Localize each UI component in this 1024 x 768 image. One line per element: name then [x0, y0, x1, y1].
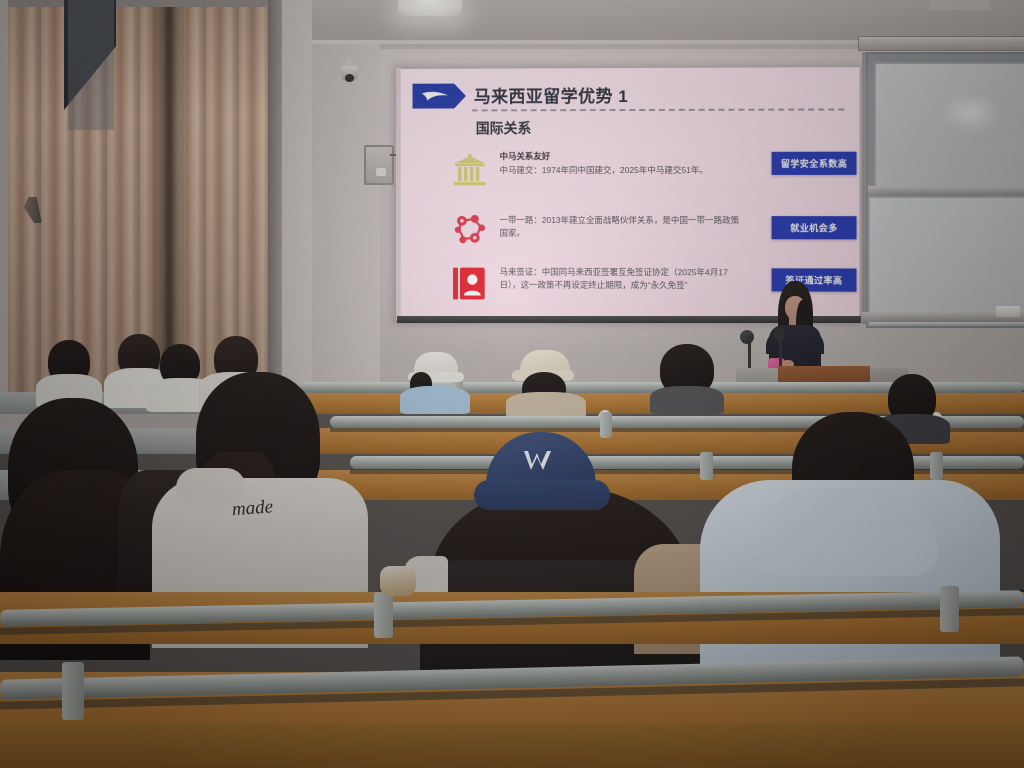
desk-object	[380, 566, 416, 596]
passport-id-icon	[452, 266, 488, 302]
slide-item-1-heading: 中马关系友好	[500, 150, 748, 162]
ceiling-light-secondary	[930, 0, 990, 10]
camera-lens-icon	[345, 74, 354, 82]
wall-panel-button[interactable]	[376, 168, 386, 176]
lecture-hall-photo: 马来西亚留学优势 1 国际关系 中马关系友好 中马建交：1974年同中国建交，2…	[0, 0, 1024, 768]
bank-building-icon	[452, 152, 488, 188]
rail-shadow	[350, 469, 1024, 474]
slide-item-1-tag[interactable]: 留学安全系数高	[772, 152, 857, 175]
slide-title: 马来西亚留学优势 1	[474, 82, 628, 107]
whiteboard-top-rail	[858, 36, 1024, 51]
curtain-rail	[8, 0, 282, 7]
slide-title-divider	[472, 108, 845, 111]
slide-item-3-body: 马来签证：中国同马来西亚签署互免签证协定（2025年4月17日），这一政策不再设…	[500, 266, 748, 293]
microphone-stand-2	[779, 338, 782, 368]
cap-logo-w-icon	[520, 448, 562, 474]
navy-cap-brim	[474, 480, 610, 510]
rail-post	[930, 452, 943, 480]
rail-post	[374, 592, 393, 638]
slide-item-3-text: 马来签证：中国同马来西亚签署互免签证协定（2025年4月17日），这一政策不再设…	[500, 264, 748, 293]
curtain-edge	[268, 0, 282, 412]
wall-panel-left	[300, 44, 380, 390]
whiteboard-middle-rail	[868, 186, 1024, 194]
swoosh-logo-icon	[420, 90, 450, 104]
student-body	[650, 386, 724, 414]
microphone-icon-2	[774, 328, 785, 340]
slide-item-2-text: 一带一路：2013年建立全面战略伙伴关系，是中国一带一路政策国家。	[500, 210, 748, 240]
slide-item-1-body: 中马建交：1974年同中国建交，2025年中马建交51年。	[500, 164, 748, 177]
slide-item-2-body: 一带一路：2013年建立全面战略伙伴关系，是中国一带一路政策国家。	[500, 214, 748, 240]
hoodie-hood	[758, 488, 938, 576]
microphone-icon-1	[740, 330, 754, 344]
slide-subtitle: 国际关系	[476, 118, 532, 138]
rail-post	[940, 586, 959, 632]
whiteboard-eraser[interactable]	[996, 306, 1020, 317]
slide-item-3: 马来签证：中国同马来西亚签署互免签证协定（2025年4月17日），这一政策不再设…	[452, 266, 852, 267]
student-body	[506, 392, 586, 418]
slide-item-1-text: 中马关系友好 中马建交：1974年同中国建交，2025年中马建交51年。	[500, 150, 748, 177]
student-body-blue	[400, 386, 470, 414]
bench-rail-c	[350, 456, 1024, 469]
wall-control-panel[interactable]	[364, 145, 394, 185]
ceiling-pillar-shade	[68, 0, 114, 130]
slide-item-2-tag[interactable]: 就业机会多	[772, 216, 857, 239]
slide-item-1: 中马关系友好 中马建交：1974年同中国建交，2025年中马建交51年。 留学安…	[452, 152, 852, 153]
bench-front-face	[0, 724, 1024, 768]
rail-post	[600, 412, 612, 438]
ceiling-light	[398, 0, 462, 16]
rail-post	[700, 452, 713, 480]
network-nodes-icon	[452, 212, 488, 248]
rail-post	[62, 662, 84, 720]
whiteboard-glare	[940, 92, 1002, 134]
